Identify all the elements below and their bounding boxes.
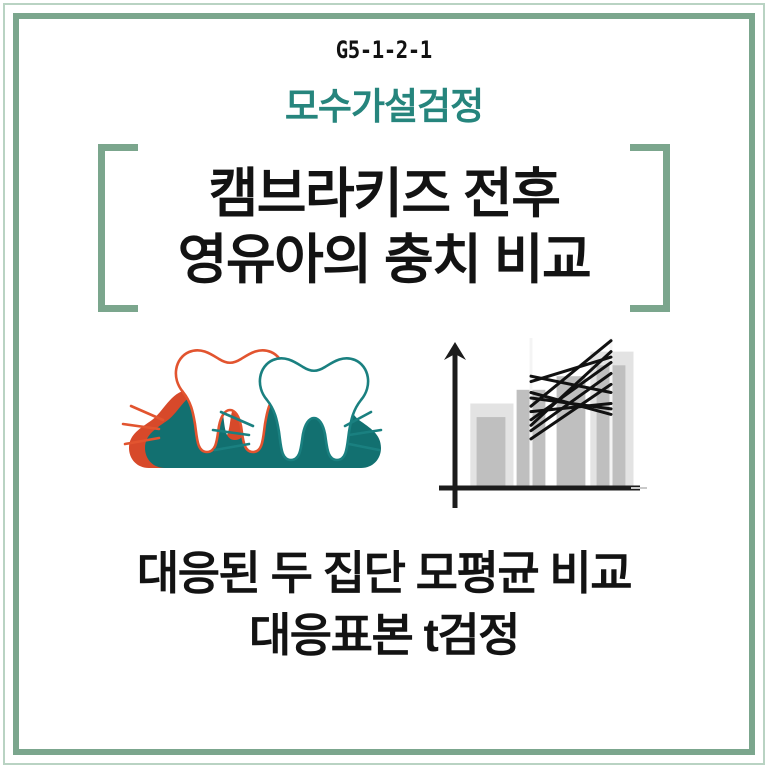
- page-title-line1: 캠브라키즈 전후: [203, 162, 566, 228]
- chart-bar: [476, 417, 505, 488]
- page-title-line2: 영유아의 충치 비교: [172, 228, 596, 294]
- bracket-left-decoration: [98, 144, 138, 312]
- caption-block: 대응된 두 집단 모평균 비교 대응표본 t검정: [137, 542, 631, 666]
- caption-line1: 대응된 두 집단 모평균 비교: [137, 542, 631, 604]
- bracket-right-decoration: [630, 144, 670, 312]
- teeth-illustration: [119, 328, 389, 518]
- lesson-code: G5-1-2-1: [336, 36, 432, 64]
- caption-line2: 대응표본 t검정: [249, 604, 519, 666]
- illustration-row: [54, 328, 714, 528]
- card-content: G5-1-2-1 모수가설검정 캠브라키즈 전후 영유아의 충치 비교: [19, 19, 749, 749]
- chart-illustration: [435, 328, 650, 518]
- category-label: 모수가설검정: [285, 76, 483, 130]
- title-block: 캠브라키즈 전후 영유아의 충치 비교: [54, 144, 714, 312]
- course-thumbnail-card: G5-1-2-1 모수가설검정 캠브라키즈 전후 영유아의 충치 비교: [0, 0, 768, 768]
